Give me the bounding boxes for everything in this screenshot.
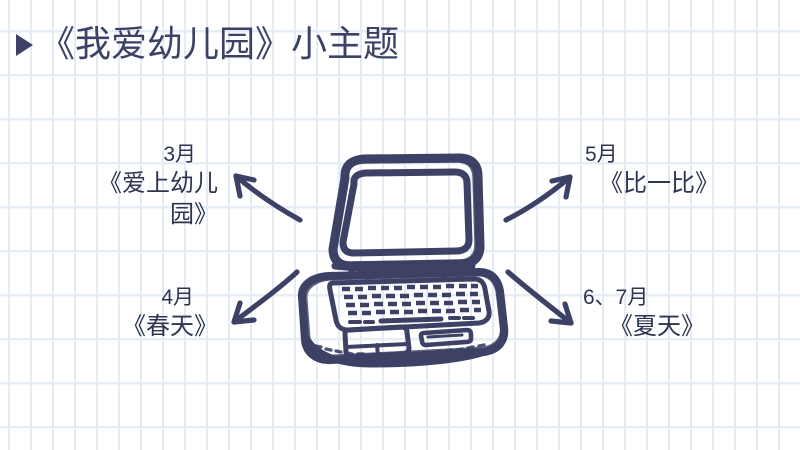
branch-topic-mar: 《爱上幼儿园》 xyxy=(78,169,218,230)
branch-month-apr: 4月 xyxy=(78,285,218,312)
branch-topic-apr: 《春天》 xyxy=(78,312,218,343)
branch-month-mar: 3月 xyxy=(78,142,218,169)
branch-label-apr: 4月 《春天》 xyxy=(78,285,218,343)
branch-label-may: 5月 《比一比》 xyxy=(585,142,735,200)
slide-canvas: 《我爱幼儿园》小主题 .ink { stroke: #3c4165; fill:… xyxy=(0,0,800,450)
branch-topic-may: 《比一比》 xyxy=(585,169,735,200)
branch-topic-summer: 《夏天》 xyxy=(583,312,753,343)
branch-month-summer: 6、7月 xyxy=(583,285,753,312)
branch-label-mar: 3月 《爱上幼儿园》 xyxy=(78,142,218,230)
branch-month-may: 5月 xyxy=(585,142,735,169)
branch-label-summer: 6、7月 《夏天》 xyxy=(583,285,753,343)
